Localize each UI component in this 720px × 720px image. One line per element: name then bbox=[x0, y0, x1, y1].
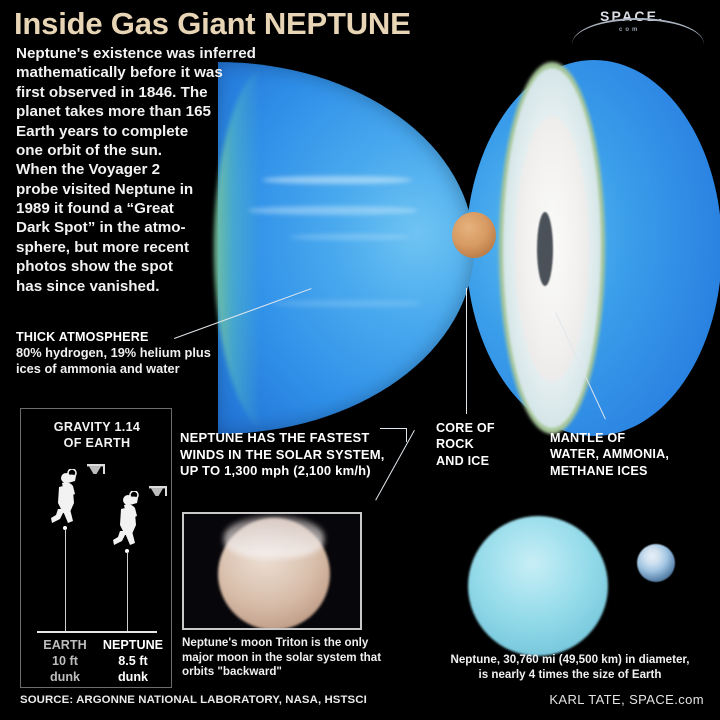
earth-hoop-icon bbox=[87, 464, 105, 485]
gravity-baseline bbox=[37, 631, 157, 633]
neptune-scale-sphere bbox=[468, 516, 608, 656]
page-title: Inside Gas Giant NEPTUNE bbox=[14, 6, 411, 42]
gravity-neptune-value: 8.5 ft bbox=[97, 653, 169, 669]
infographic-poster: Inside Gas Giant NEPTUNE SPACE. com Nept… bbox=[0, 0, 720, 720]
gravity-panel-title: GRAVITY 1.14 OF EARTH bbox=[21, 419, 173, 452]
gravity-neptune-unit: dunk bbox=[97, 669, 169, 685]
cloud-band-3 bbox=[290, 234, 410, 240]
gravity-column-neptune: NEPTUNE 8.5 ft dunk bbox=[97, 637, 169, 685]
triton-polar-cap bbox=[224, 516, 324, 558]
gravity-earth-value: 10 ft bbox=[31, 653, 99, 669]
leader-line-winds-2 bbox=[380, 428, 407, 429]
source-line: SOURCE: ARGONNE NATIONAL LABORATORY, NAS… bbox=[20, 694, 367, 706]
callout-atmosphere-heading: THICK ATMOSPHERE bbox=[16, 330, 266, 345]
inner-core-cross-section bbox=[537, 212, 553, 286]
callout-core: CORE OF ROCK AND ICE bbox=[436, 420, 536, 469]
earth-dunker-figure bbox=[45, 469, 89, 527]
gravity-comparison-panel: GRAVITY 1.14 OF EARTH bbox=[20, 408, 172, 688]
earth-scale-sphere bbox=[637, 544, 675, 582]
cloud-band-1 bbox=[262, 176, 412, 184]
spacecom-logo[interactable]: SPACE. com bbox=[572, 6, 704, 46]
neptune-jump-height-line bbox=[127, 552, 128, 631]
triton-photo bbox=[182, 512, 362, 630]
callout-mantle: MANTLE OF WATER, AMMONIA, METHANE ICES bbox=[550, 430, 720, 479]
gravity-neptune-name: NEPTUNE bbox=[97, 637, 169, 653]
callout-core-heading: CORE OF ROCK AND ICE bbox=[436, 420, 536, 469]
cloud-band-4 bbox=[272, 300, 422, 307]
callout-thick-atmosphere: THICK ATMOSPHERE 80% hydrogen, 19% heliu… bbox=[16, 330, 266, 376]
gravity-earth-unit: dunk bbox=[31, 669, 99, 685]
callout-mantle-heading: MANTLE OF WATER, AMMONIA, METHANE ICES bbox=[550, 430, 720, 479]
gravity-earth-name: EARTH bbox=[31, 637, 99, 653]
leader-line-core bbox=[466, 288, 467, 414]
earth-jump-height-line bbox=[65, 529, 66, 631]
size-comparison-caption: Neptune, 30,760 mi (49,500 km) in diamet… bbox=[420, 652, 720, 682]
credit-line: KARL TATE, SPACE.com bbox=[549, 692, 704, 707]
callout-fastest-winds: NEPTUNE HAS THE FASTEST WINDS IN THE SOL… bbox=[180, 430, 420, 480]
cloud-band-2 bbox=[248, 206, 418, 215]
gravity-column-earth: EARTH 10 ft dunk bbox=[31, 637, 99, 685]
logo-domain-text: com bbox=[619, 27, 640, 33]
neptune-dunker-figure bbox=[107, 491, 151, 549]
triton-caption: Neptune's moon Triton is the only major … bbox=[182, 636, 418, 680]
neptune-hoop-icon bbox=[149, 486, 167, 507]
callout-atmosphere-body: 80% hydrogen, 19% helium plus ices of am… bbox=[16, 345, 266, 376]
core-sphere bbox=[452, 212, 496, 258]
intro-paragraph: Neptune's existence was inferred mathema… bbox=[16, 44, 268, 296]
callout-winds-heading: NEPTUNE HAS THE FASTEST WINDS IN THE SOL… bbox=[180, 430, 420, 480]
